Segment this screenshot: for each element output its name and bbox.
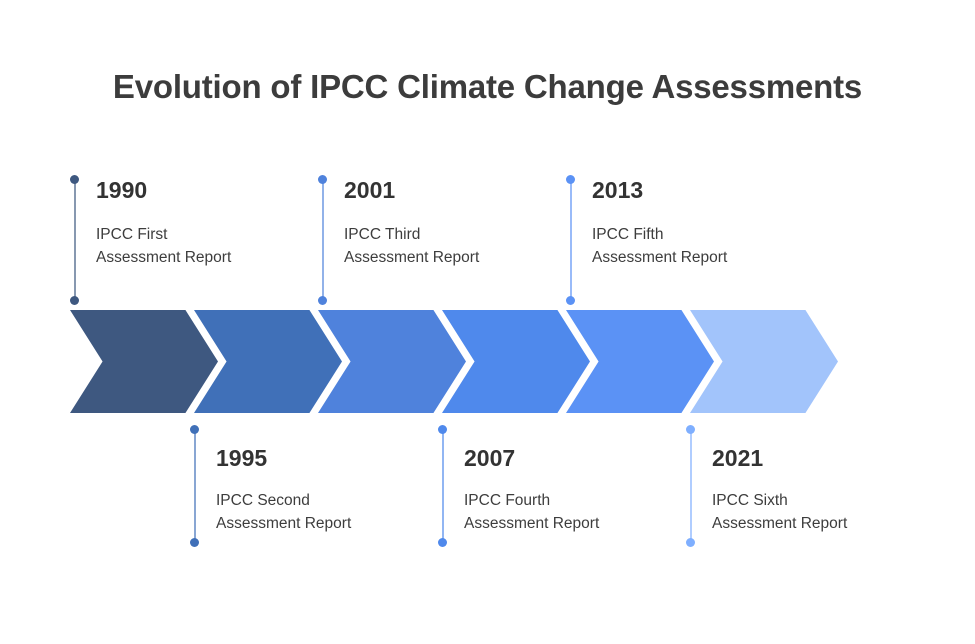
connector-dot-bottom [438, 538, 447, 547]
connector-dot-top [70, 175, 79, 184]
connector-dot-top [686, 425, 695, 434]
connector-line [194, 429, 196, 543]
connector-dot-top [566, 175, 575, 184]
chevron-step-1 [70, 310, 218, 413]
connector-dot-top [318, 175, 327, 184]
milestone-1995: 1995 IPCC Second Assessment Report [190, 425, 420, 547]
milestone-year: 2021 [712, 447, 916, 470]
page-title: Evolution of IPCC Climate Change Assessm… [0, 68, 975, 106]
connector-dot-bottom [686, 538, 695, 547]
milestone-body: 1990 IPCC First Assessment Report [96, 179, 300, 270]
milestone-body: 2001 IPCC Third Assessment Report [344, 179, 548, 270]
milestone-2001: 2001 IPCC Third Assessment Report [318, 175, 548, 305]
milestone-year: 1995 [216, 447, 420, 470]
milestone-2007: 2007 IPCC Fourth Assessment Report [438, 425, 668, 547]
connector-dot-bottom [70, 296, 79, 305]
connector-dot-bottom [566, 296, 575, 305]
milestone-year: 2013 [592, 179, 796, 202]
connector-dot-top [190, 425, 199, 434]
connector-dot-bottom [318, 296, 327, 305]
milestone-1990: 1990 IPCC First Assessment Report [70, 175, 300, 305]
connector-line [690, 429, 692, 543]
milestone-body: 2013 IPCC Fifth Assessment Report [592, 179, 796, 270]
milestone-year: 1990 [96, 179, 300, 202]
milestone-body: 2007 IPCC Fourth Assessment Report [464, 447, 668, 536]
milestone-body: 2021 IPCC Sixth Assessment Report [712, 447, 916, 536]
milestone-description: IPCC Second Assessment Report [216, 490, 420, 536]
timeline-chevron-band [70, 310, 830, 413]
milestone-2013: 2013 IPCC Fifth Assessment Report [566, 175, 796, 305]
connector-dot-top [438, 425, 447, 434]
milestone-description: IPCC Fourth Assessment Report [464, 490, 668, 536]
milestone-body: 1995 IPCC Second Assessment Report [216, 447, 420, 536]
connector-2013 [566, 175, 575, 305]
connector-line [74, 179, 76, 301]
connector-line [322, 179, 324, 301]
connector-line [570, 179, 572, 301]
milestone-description: IPCC Fifth Assessment Report [592, 224, 796, 270]
connector-1995 [190, 425, 199, 547]
milestone-2021: 2021 IPCC Sixth Assessment Report [686, 425, 916, 547]
connector-line [442, 429, 444, 543]
connector-2021 [686, 425, 695, 547]
connector-2001 [318, 175, 327, 305]
milestone-description: IPCC First Assessment Report [96, 224, 300, 270]
milestone-description: IPCC Sixth Assessment Report [712, 490, 916, 536]
milestone-year: 2007 [464, 447, 668, 470]
milestone-description: IPCC Third Assessment Report [344, 224, 548, 270]
connector-1990 [70, 175, 79, 305]
milestone-year: 2001 [344, 179, 548, 202]
connector-dot-bottom [190, 538, 199, 547]
connector-2007 [438, 425, 447, 547]
